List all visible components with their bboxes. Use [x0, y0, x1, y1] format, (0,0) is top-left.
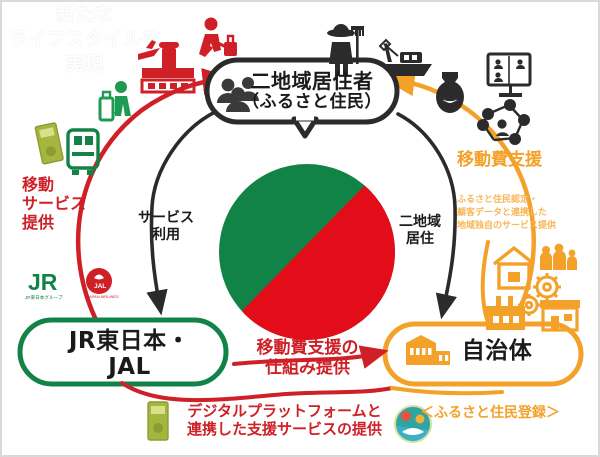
inner-arc-right-black	[398, 114, 455, 306]
svg-text:JR東日本グループ: JR東日本グループ	[25, 294, 63, 301]
infographic-canvas: JR JR東日本グループ JAL JAPAN AIRLINES 二地域居住者 （…	[0, 0, 600, 457]
node-left-line1: JR東日本・	[69, 328, 190, 354]
traveler-suitcase-green-icon	[100, 81, 131, 120]
label-scheme-provide-1: 移動費支援の	[235, 338, 380, 358]
svg-text:JAL: JAL	[94, 283, 106, 290]
pottery-vase-icon	[436, 72, 464, 113]
label-digital-platform-2: 連携した支援サービスの提供	[177, 420, 392, 438]
train-icon	[68, 130, 98, 175]
inner-arc-left-black	[151, 112, 215, 302]
node-left-line2: JAL	[42, 355, 217, 381]
jal-logo: JAL JAPAN AIRLINES	[86, 268, 119, 299]
label-move-cost-support-sub-1: ふるさと住民認定・	[457, 194, 597, 207]
node-top-title: 二地域居住者	[251, 69, 374, 93]
label-move-cost-support-sub-2: 顧客データと連携した	[457, 207, 597, 220]
svg-text:JAPAN AIRLINES: JAPAN AIRLINES	[87, 294, 119, 299]
family-group-icon	[540, 244, 577, 270]
label-dual-residence-1: 二地域	[387, 214, 453, 231]
green-card-icon	[148, 402, 168, 440]
label-move-cost-support: 移動費支援	[457, 150, 597, 170]
vacant-house-icon	[494, 248, 534, 288]
label-service-use-2: 利用	[126, 227, 206, 244]
label-dual-residence-2: 居住	[387, 231, 453, 248]
label-service-use: サービス 利用	[126, 210, 206, 244]
label-digital-platform-1: デジタルプラットフォームと	[177, 402, 392, 420]
label-move-cost-support-sub: ふるさと住民認定・ 顧客データと連携した 地域独自のサービス提供	[457, 194, 597, 233]
node-left-label: JR東日本・ JAL	[42, 329, 217, 381]
jr-east-logo: JR JR東日本グループ	[24, 268, 78, 301]
label-digital-platform: デジタルプラットフォームと 連携した支援サービスの提供	[177, 402, 392, 438]
node-top-label: 二地域居住者 （ふるさと住民）	[227, 70, 397, 112]
label-service-use-1: サービス	[126, 210, 206, 227]
label-scheme-provide-2: 仕組み提供	[235, 358, 380, 378]
label-furusato-register: ＜ふるさと住民登録＞	[420, 405, 590, 422]
factory-icon	[486, 296, 525, 330]
svg-text:JR: JR	[28, 269, 58, 295]
airport-plane-icon	[138, 40, 194, 92]
label-move-service-3: 提供	[22, 213, 127, 232]
node-right-label: 自治体	[437, 339, 557, 365]
ticket-card-icon	[35, 123, 63, 165]
bottom-arc-orange-register	[392, 388, 502, 393]
node-top-subtitle: （ふるさと住民）	[227, 93, 397, 112]
video-conference-icon	[488, 54, 530, 97]
label-move-cost-support-sub-3: 地域独自のサービス提供	[457, 220, 597, 233]
label-move-service-2: サービス	[22, 194, 127, 213]
label-dual-residence: 二地域 居住	[387, 214, 453, 248]
network-people-icon	[477, 99, 530, 145]
center-circle	[197, 142, 407, 357]
label-scheme-provide: 移動費支援の 仕組み提供	[235, 338, 380, 379]
traveler-luggage-red-icon	[199, 18, 237, 58]
label-move-service: 移動 サービス 提供	[22, 175, 127, 233]
label-move-service-1: 移動	[22, 175, 127, 194]
